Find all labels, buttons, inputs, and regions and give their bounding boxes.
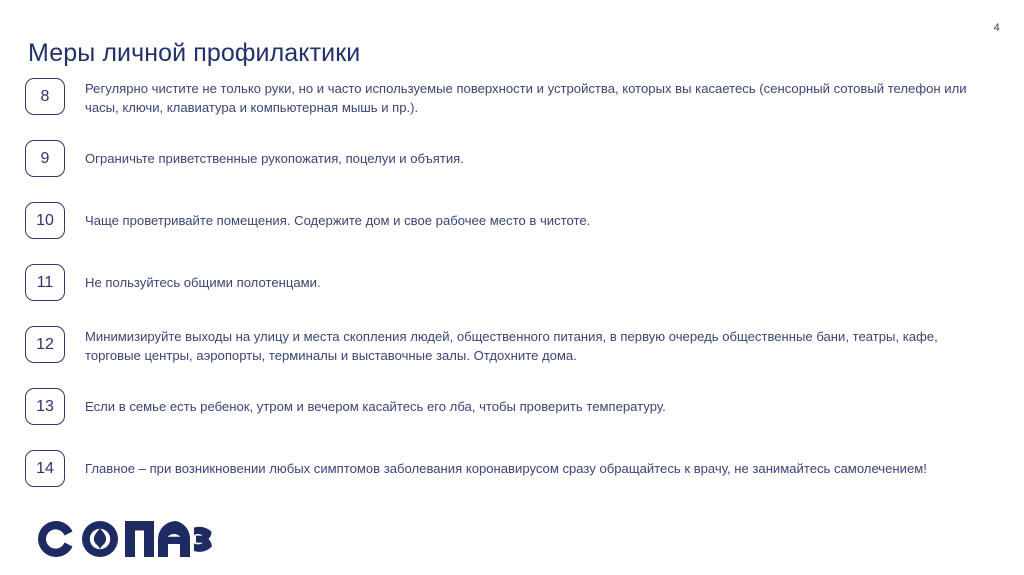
tip-number-badge: 9 — [25, 140, 65, 177]
tip-number-badge: 10 — [25, 202, 65, 239]
tip-number-badge: 12 — [25, 326, 65, 363]
logo-letter-z — [194, 527, 212, 552]
tip-number-badge: 11 — [25, 264, 65, 301]
tip-text: Если в семье есть ребенок, утром и вечер… — [85, 388, 1024, 416]
list-item: 9 Ограничьте приветственные рукопожатия,… — [0, 140, 1024, 177]
sogaz-logo — [30, 511, 215, 567]
list-item: 11 Не пользуйтесь общими полотенцами. — [0, 264, 1024, 301]
tip-number-badge: 8 — [25, 78, 65, 115]
tip-text: Ограничьте приветственные рукопожатия, п… — [85, 140, 1024, 168]
tip-text: Не пользуйтесь общими полотенцами. — [85, 264, 1024, 292]
tip-text: Главное – при возникновении любых симпто… — [85, 450, 1024, 478]
list-item: 14 Главное – при возникновении любых сим… — [0, 450, 1024, 487]
tip-text: Регулярно чистите не только руки, но и ч… — [85, 78, 1024, 117]
logo-letter-g — [125, 521, 154, 557]
slide: 4 Меры личной профилактики 8 Регулярно ч… — [0, 0, 1024, 575]
page-number: 4 — [994, 22, 1000, 34]
list-item: 12 Минимизируйте выходы на улицу и места… — [0, 326, 1024, 365]
tip-number-badge: 14 — [25, 450, 65, 487]
tip-text: Чаще проветривайте помещения. Содержите … — [85, 202, 1024, 230]
list-item: 10 Чаще проветривайте помещения. Содержи… — [0, 202, 1024, 239]
list-item: 8 Регулярно чистите не только руки, но и… — [0, 78, 1024, 117]
tip-number-badge: 13 — [25, 388, 65, 425]
logo-letter-s — [38, 521, 73, 557]
page-title: Меры личной профилактики — [28, 37, 360, 69]
logo-letter-a — [158, 521, 190, 557]
list-item: 13 Если в семье есть ребенок, утром и ве… — [0, 388, 1024, 425]
tip-text: Минимизируйте выходы на улицу и места ск… — [85, 326, 1024, 365]
